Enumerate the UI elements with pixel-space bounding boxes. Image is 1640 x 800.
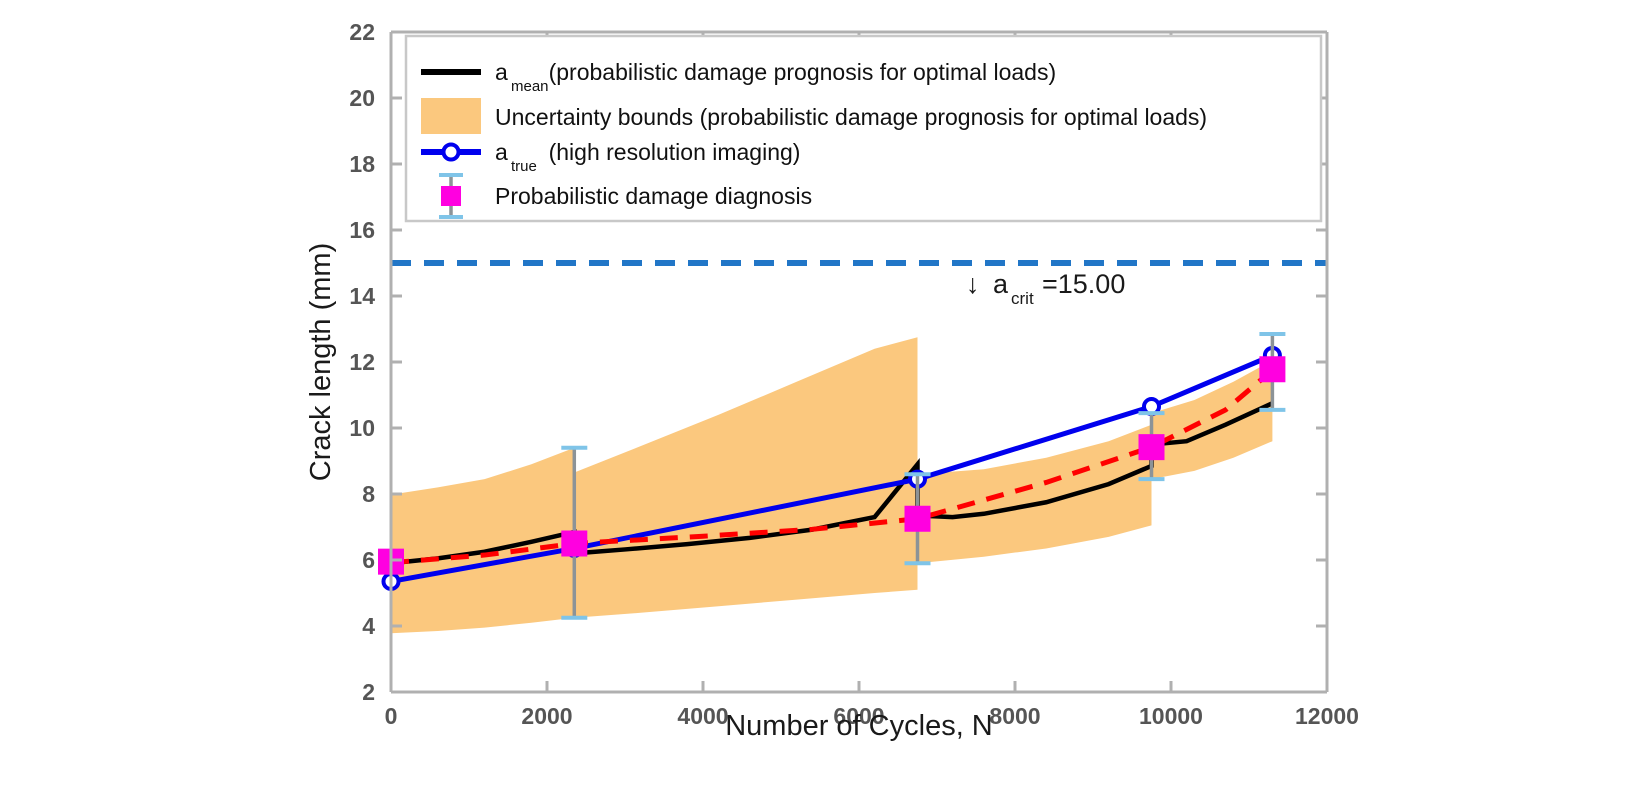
x-tick-label-12000: 12000 [1295,703,1359,729]
y-tick-label-22: 22 [349,19,375,45]
y-tick-label-8: 8 [362,481,375,507]
y-tick-label-20: 20 [349,85,375,111]
critical-arrow-icon: ↓ [966,269,980,299]
figure-container: 2468101214161820220200040006000800010000… [0,0,1640,800]
legend-label-main-a-true: a [495,139,508,165]
legend-item-uncertainty-bounds[interactable]: Uncertainty bounds (probabilistic damage… [421,98,1207,134]
diagnosis-marker-3 [1139,434,1165,460]
y-tick-label-6: 6 [362,547,375,573]
legend-swatch-circle-icon [444,145,459,160]
crack-length-chart: 2468101214161820220200040006000800010000… [0,0,1640,800]
diagnosis-marker-1 [561,531,587,557]
legend-swatch-patch-orange [421,98,481,134]
critical-label-sub: crit [1011,289,1034,308]
legend-label-probabilistic-damage-diagnosis: Probabilistic damage diagnosis [495,183,812,209]
x-axis-title: Number of Cycles, N [725,710,993,742]
annotation-layer: ↓acrit=15.00 [966,269,1125,308]
chart-legend[interactable]: amean (probabilistic damage prognosis fo… [406,36,1321,221]
y-tick-label-18: 18 [349,151,375,177]
critical-label-tail: =15.00 [1042,269,1125,299]
x-tick-label-8000: 8000 [989,703,1040,729]
critical-label-main: a [993,269,1009,299]
y-tick-label-14: 14 [349,283,375,309]
legend-label-uncertainty-bounds: Uncertainty bounds (probabilistic damage… [495,104,1207,130]
y-tick-label-16: 16 [349,217,375,243]
diagnosis-marker-2 [905,506,931,532]
uncertainty-band-segment-2 [918,425,1152,564]
y-axis-title: Crack length (mm) [305,243,337,482]
x-tick-label-10000: 10000 [1139,703,1203,729]
legend-label-a-mean: (probabilistic damage prognosis for opti… [549,59,1057,85]
y-tick-label-2: 2 [362,679,375,705]
y-tick-label-12: 12 [349,349,375,375]
x-tick-label-2000: 2000 [521,703,572,729]
x-tick-label-4000: 4000 [677,703,728,729]
legend-label-sub-a-true: true [511,158,537,175]
y-tick-label-10: 10 [349,415,375,441]
legend-swatch-square-magenta [441,186,461,206]
uncertainty-band-segment-1 [574,337,917,618]
legend-label-a-true: (high resolution imaging) [549,139,801,165]
uncertainty-band-segment-3 [1152,360,1273,479]
legend-label-main-a-mean: a [495,59,508,85]
y-tick-label-4: 4 [362,613,375,639]
diagnosis-marker-4 [1259,356,1285,382]
legend-label-sub-a-mean: mean [511,78,549,95]
x-tick-label-0: 0 [385,703,398,729]
uncertainty-band-layer [391,337,1272,633]
